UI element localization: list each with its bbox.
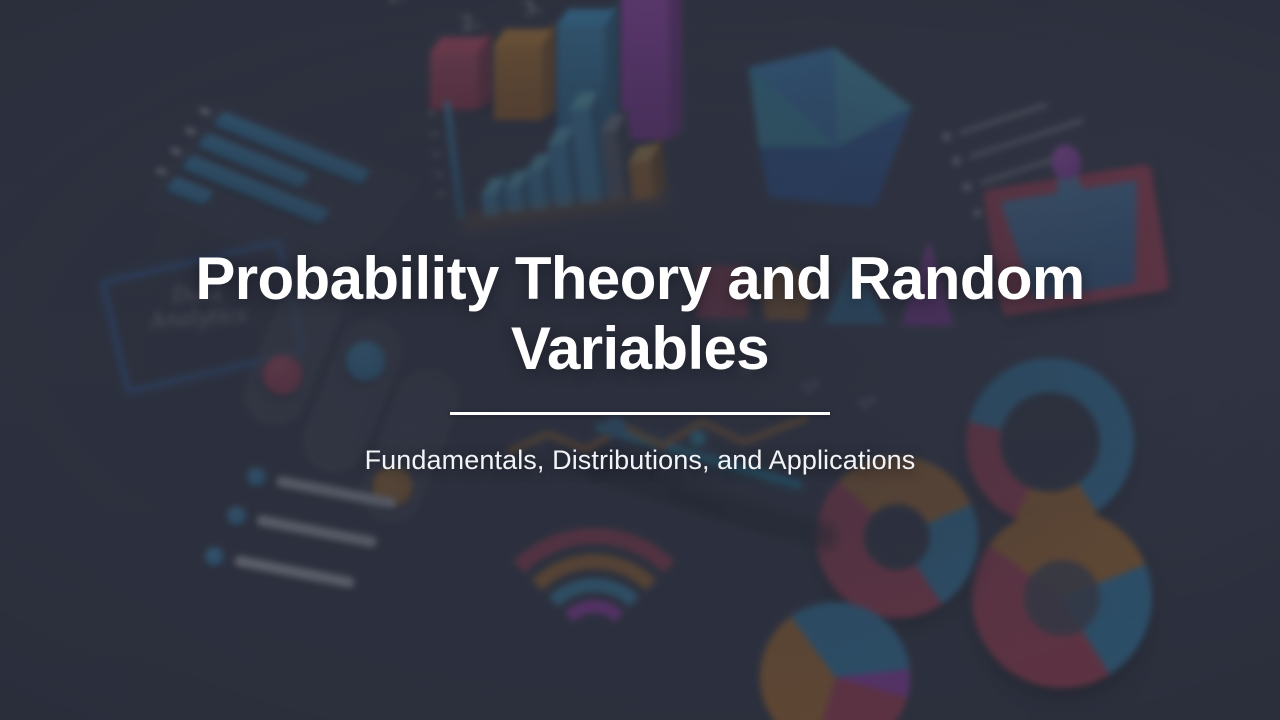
title-divider (450, 412, 830, 415)
title-slide: 1. 2. 3. (0, 0, 1280, 720)
slide-content: Probability Theory and Random Variables … (0, 0, 1280, 720)
page-subtitle: Fundamentals, Distributions, and Applica… (365, 445, 916, 476)
page-title: Probability Theory and Random Variables (185, 244, 1095, 384)
